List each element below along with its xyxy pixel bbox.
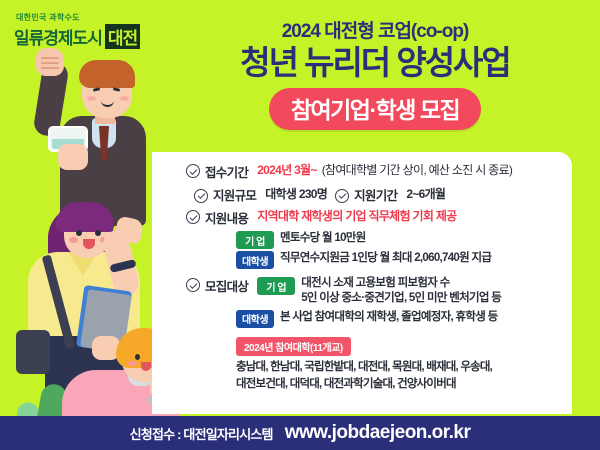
row-label: 지원기간 xyxy=(354,185,397,204)
support-student-text: 직무연수지원금 1인당 월 최대 2,060,740원 지급 xyxy=(280,251,491,266)
support-item-company: 기 업 멘토수당 월 10만원 xyxy=(236,231,560,249)
tag-company: 기 업 xyxy=(236,231,274,249)
check-circle-icon xyxy=(194,189,208,203)
row-value: 대학생 230명 xyxy=(265,186,327,202)
support-company-text: 멘토수당 월 10만원 xyxy=(280,231,366,246)
student-orange-eye-left xyxy=(135,354,140,360)
row-label: 모집대상 xyxy=(205,276,248,295)
info-card: 접수기간 2024년 3월~ (참여대학별 기간 상이, 예산 소진 시 종료)… xyxy=(152,152,572,414)
check-circle-icon xyxy=(335,189,349,203)
tag-student: 대학생 xyxy=(236,310,274,328)
universities-section: 2024년 참여대학(11개교) 충남대, 한남대, 국립한밭대, 대전대, 목… xyxy=(236,330,560,392)
businessman-hair xyxy=(79,60,135,88)
tag-company: 기 업 xyxy=(257,277,295,295)
target-student-text: 본 사업 참여대학의 재학생, 졸업예정자, 휴학생 등 xyxy=(280,310,498,325)
businessman-fist-icon xyxy=(36,48,64,76)
website-url[interactable]: www.jobdaejeon.or.kr xyxy=(285,422,471,444)
universities-badge: 2024년 참여대학(11개교) xyxy=(236,337,351,356)
title-block: 2024 대전형 코업(co-op) 청년 뉴리더 양성사업 참여기업·학생 모… xyxy=(160,22,590,130)
universities-list-line2: 대전보건대, 대덕대, 대전과학기술대, 건양사이버대 xyxy=(236,376,560,393)
row-label: 지원내용 xyxy=(205,208,248,227)
student-purple-hair-top xyxy=(56,202,114,232)
target-company-text: 대전시 소재 고용보험 피보험자 수 5인 이상 중소·중견기업, 5인 미만 … xyxy=(301,276,501,306)
row-note: (참여대학별 기간 상이, 예산 소진 시 종료) xyxy=(322,162,512,178)
student-purple-cheek-left xyxy=(69,237,78,243)
businessman-cheek-right xyxy=(120,96,129,101)
target-company-line2: 5인 이상 중소·중견기업, 5인 미만 벤처기업 등 xyxy=(301,292,501,304)
check-circle-icon xyxy=(186,210,200,224)
page-title: 청년 뉴리더 양성사업 xyxy=(160,44,590,82)
title-subtitle: 2024 대전형 코업(co-op) xyxy=(160,22,590,43)
recruitment-badge: 참여기업·학생 모집 xyxy=(269,88,481,130)
row-label: 접수기간 xyxy=(205,162,248,181)
target-item-student: 대학생 본 사업 참여대학의 재학생, 졸업예정자, 휴학생 등 xyxy=(236,310,560,328)
student-purple-eye-right xyxy=(95,230,101,236)
apply-label: 신청접수 : 대전일자리시스템 xyxy=(130,424,273,443)
info-row-scale-and-duration: 지원규모 대학생 230명 지원기간 2~6개월 xyxy=(186,185,560,204)
logo-supertitle: 대한민국 과학수도 xyxy=(14,12,149,23)
target-company-line1: 대전시 소재 고용보험 피보험자 수 xyxy=(301,277,449,289)
footer-bar: 신청접수 : 대전일자리시스템 www.jobdaejeon.or.kr xyxy=(0,416,600,450)
student-orange-cheek-left xyxy=(128,361,137,366)
businessman-hand xyxy=(58,144,88,170)
support-headline: 지역대학 재학생의 기업 직무체험 기회 제공 xyxy=(257,208,456,224)
check-circle-icon xyxy=(186,278,200,292)
info-row-application-period: 접수기간 2024년 3월~ (참여대학별 기간 상이, 예산 소진 시 종료) xyxy=(186,162,560,181)
tag-student: 대학생 xyxy=(236,251,274,269)
target-items: 대학생 본 사업 참여대학의 재학생, 졸업예정자, 휴학생 등 xyxy=(236,310,560,328)
universities-list-line1: 충남대, 한남대, 국립한밭대, 대전대, 목원대, 배재대, 우송대, xyxy=(236,359,560,376)
poster-root: 대한민국 과학수도 일류경제도시 대전 2024 대전형 코업(co-op) 청… xyxy=(0,0,600,450)
row-value: 2024년 3월~ xyxy=(257,162,317,178)
support-items: 기 업 멘토수당 월 10만원 대학생 직무연수지원금 1인당 월 최대 2,0… xyxy=(236,231,560,269)
check-circle-icon xyxy=(186,164,200,178)
info-row-support-content: 지원내용 지역대학 재학생의 기업 직무체험 기회 제공 xyxy=(186,208,560,227)
info-row-target: 모집대상 기 업 대전시 소재 고용보험 피보험자 수 5인 이상 중소·중견기… xyxy=(186,276,560,306)
student-purple-eye-left xyxy=(76,230,82,236)
support-item-student: 대학생 직무연수지원금 1인당 월 최대 2,060,740원 지급 xyxy=(236,251,560,269)
businessman-cheek-left xyxy=(87,96,96,101)
row-label: 지원규모 xyxy=(213,185,256,204)
student-purple-bag xyxy=(16,330,50,374)
row-value: 2~6개월 xyxy=(406,186,445,202)
